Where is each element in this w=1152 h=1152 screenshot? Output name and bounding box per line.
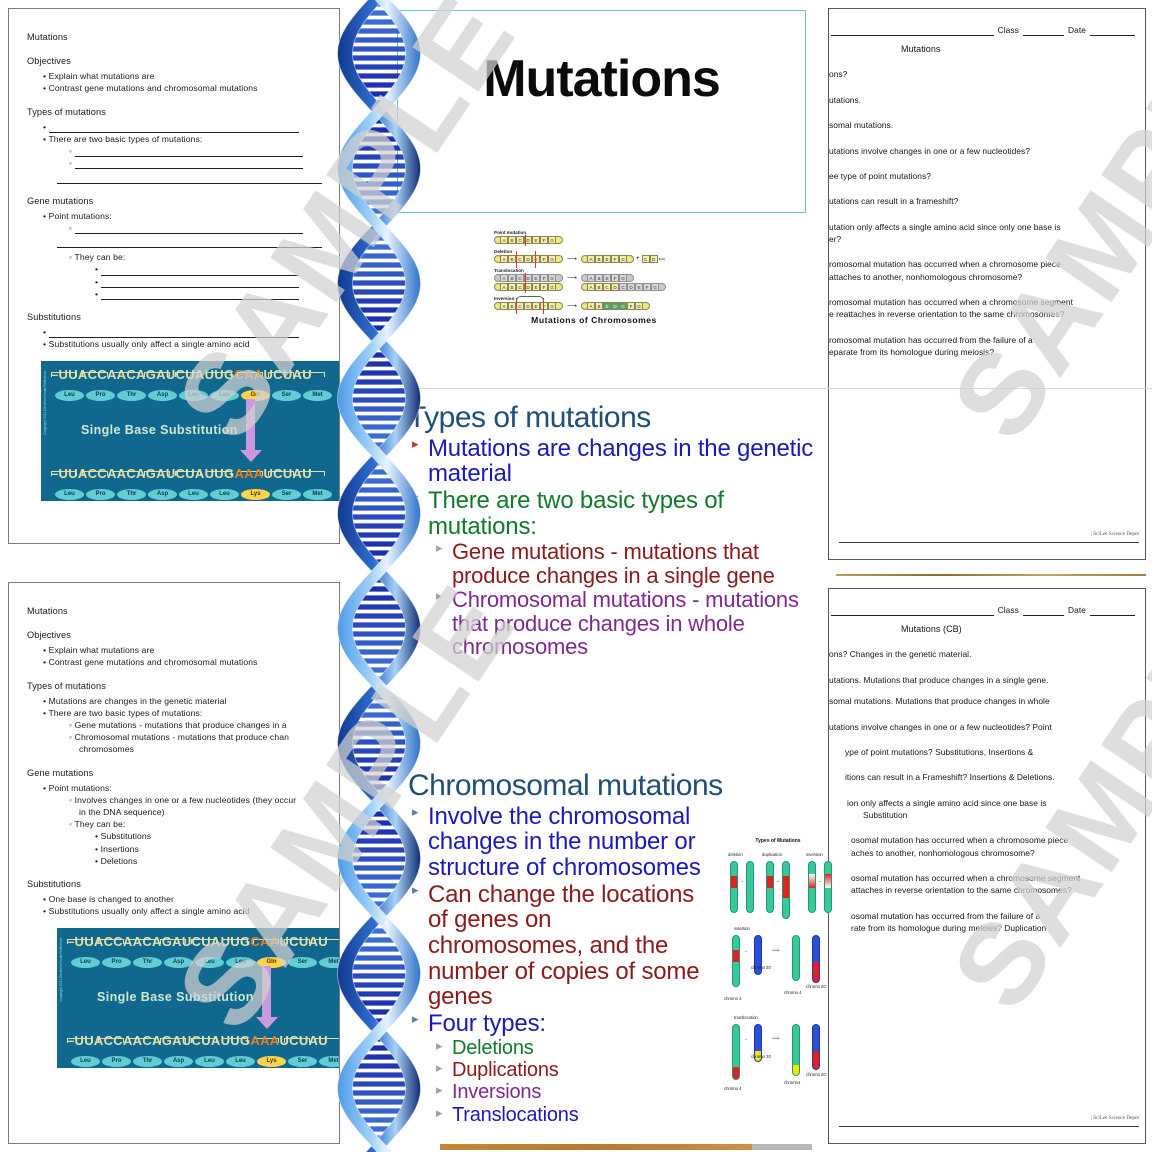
chromosome-translocation-src: [732, 1024, 740, 1080]
answer-blank[interactable]: [75, 149, 303, 157]
notes-blank-subs-blank: •: [27, 326, 325, 338]
notes-blank-types-b2: • There are two basic types of mutations…: [27, 133, 325, 145]
worksheet-key-q7: ion only affects a single amino acid sin…: [829, 798, 1135, 809]
slide-types-of-mutations: Types of mutations Mutations are changes…: [408, 402, 818, 659]
slide-chromosomal-type-4: Translocations: [408, 1105, 708, 1126]
worksheet-blank-q3: somal mutations.: [829, 120, 1135, 131]
figure-copyright: Copyright 2011 Genetics Home Reference: [59, 938, 63, 1002]
notes-key-gene-4: ◦ They can be:: [27, 818, 325, 830]
date-blank[interactable]: [1090, 607, 1135, 616]
chromosome-insertion-result-b: [812, 935, 820, 983]
worksheet-key-q4: utations involve changes in one or a few…: [829, 722, 1135, 733]
notes-key-gene-title: Gene mutations: [27, 767, 325, 780]
chromosome-duplication-after: [782, 861, 790, 919]
date-label: Date: [1068, 605, 1086, 616]
tom-figure-title: Types of Mutations: [716, 838, 840, 844]
sbs-figure-title: Single Base Substitution: [81, 423, 238, 437]
moc-row-translocation-bottom: ABCDEFG ⟶ ABCDCDEFG: [494, 283, 694, 291]
moc-label-translocation: Translocation: [494, 268, 694, 273]
figure-copyright: Copyright 2011 Genetics Home Reference: [43, 371, 47, 435]
notes-key-subs-title: Substitutions: [27, 878, 325, 891]
slide-types-bullet-1: Mutations are changes in the genetic mat…: [408, 436, 818, 487]
moc-row-point: ABCDEFG: [494, 236, 694, 244]
worksheet-gold-divider: [836, 574, 1146, 576]
tom-chromo-label-3: chromo 4: [784, 990, 801, 995]
answer-blank[interactable]: [49, 125, 299, 133]
notes-key-heading: Mutations: [27, 605, 325, 618]
slide-types-bullet-3: Gene mutations - mutations that produce …: [408, 540, 818, 587]
notes-key-types-title: Types of mutations: [27, 680, 325, 693]
notes-blank-subs-b2: • Substitutions usually only affect a si…: [27, 338, 325, 350]
chromosome-translocation-result-b: [812, 1024, 820, 1070]
dna-helix-icon: [325, 0, 433, 1152]
worksheet-blank-q10b: eparate from its homologue during meiosi…: [829, 347, 1135, 358]
moc-caption: Mutations of Chromosomes: [494, 315, 694, 325]
notes-blank-gene-sub-1: ◦: [27, 222, 325, 234]
worksheet-key-q8b: aches to another, nonhomologous chromoso…: [829, 848, 1135, 859]
name-blank[interactable]: [831, 27, 994, 36]
notes-key-objective-1: • Explain what mutations are: [27, 644, 325, 656]
single-base-substitution-figure-key: Copyright 2011 Genetics Home Reference –…: [57, 928, 340, 1068]
tom-chromo-label-2: chromo 20: [806, 984, 826, 989]
sbs-bottom-sequence: –UUACCAACAGAUCUAUUGAAAUCUAU: [51, 466, 312, 481]
notes-blank-objective-2: • Contrast gene mutations and chromosoma…: [27, 82, 325, 94]
tom-label-translocation: translocation: [734, 1015, 758, 1020]
notes-key-types-5: chromosomes: [27, 743, 325, 755]
notes-key-types-3: ◦ Gene mutations - mutations that produc…: [27, 719, 325, 731]
notes-blank-types-sub-1: ◦: [27, 145, 325, 157]
tom-label-duplication: duplication: [762, 852, 782, 857]
worksheet-blank-q9: romosomal mutation has occurred when a c…: [829, 297, 1135, 308]
notes-blank-gene-b1: • Point mutations:: [27, 210, 325, 222]
answer-blank[interactable]: [75, 226, 303, 234]
worksheet-blank-footer-rule: [839, 542, 1139, 543]
class-blank[interactable]: [1023, 607, 1064, 616]
chromosome-duplication-before: [766, 861, 774, 913]
tom-chromo-label-7: chromo4: [784, 1080, 800, 1085]
worksheet-blank-q7b: er?: [829, 234, 1135, 245]
slide-title-text: Mutations: [483, 49, 720, 109]
notes-key-objectives-title: Objectives: [27, 629, 325, 642]
notes-blank-gene-type-3: •: [27, 288, 325, 300]
worksheet-blank-q2: utations.: [829, 95, 1135, 106]
mutations-of-chromosomes-figure: Point mutation ABCDEFG Deletion ABCDEFG …: [494, 230, 694, 380]
moc-deletion-note: (lost): [659, 257, 666, 261]
worksheet-blank-q10: romosomal mutation has occurred from the…: [829, 335, 1135, 346]
worksheet-key-page: Class Date Mutations (CB) ons? Changes i…: [828, 588, 1146, 1144]
tom-label-inversion: inversion: [806, 852, 823, 857]
moc-row-translocation-top: ABCDEFG ⟶ ABEFG: [494, 274, 694, 282]
worksheet-key-q10: osomal mutation has occurred from the fa…: [829, 911, 1135, 922]
worksheet-key-q9b: attaches in reverse orientation to the s…: [829, 885, 1135, 896]
sbs-top-sequence: –UUACCAACAGAUCUAUUGCAAUCUAU: [51, 367, 312, 382]
notes-blank-types-blank-1: •: [27, 121, 325, 133]
notes-blank-types-sub-3: [27, 171, 325, 183]
notes-key-gene-5: • Substitutions: [27, 830, 325, 842]
moc-label-deletion: Deletion: [494, 249, 694, 254]
moc-row-inversion: ABCDEFG ⟶ ABEDCFG: [494, 302, 694, 310]
worksheet-key-footer-rule: [839, 1126, 1139, 1127]
chromosome-deletion-after: [746, 861, 754, 913]
notes-key-gene-2: ◦ Involves changes in one or a few nucle…: [27, 794, 325, 806]
sbs-bottom-sequence: –UUACCAACAGAUCUAUUGAAAUCUAU: [67, 1033, 328, 1048]
notes-key-objective-2: • Contrast gene mutations and chromosoma…: [27, 656, 325, 668]
substitution-arrow: [262, 966, 271, 1018]
notes-key-subs-2: • Substitutions usually only affect a si…: [27, 905, 325, 917]
chromosome-inversion-after: [824, 861, 832, 913]
notes-key-types-4: ◦ Chromosomal mutations - mutations that…: [27, 731, 325, 743]
notes-key-subs-1: • One base is changed to another: [27, 893, 325, 905]
notes-blank-gene-b2: ◦ They can be:: [27, 251, 325, 263]
slide-types-heading: Types of mutations: [408, 402, 818, 434]
slide-types-bullet-2: There are two basic types of mutations:: [408, 488, 818, 539]
moc-row-deletion: ABCDEFG ⟶ ABEFG + CD (lost): [494, 255, 694, 263]
substitution-arrow: [246, 399, 255, 451]
guided-notes-blank-page: Mutations Objectives • Explain what muta…: [8, 8, 340, 544]
notes-blank-heading: Mutations: [27, 31, 325, 44]
slide-separator-rule: [397, 388, 1152, 389]
notes-blank-subs-title: Substitutions: [27, 311, 325, 324]
sbs-top-sequence: –UUACCAACAGAUCUAUUGCAAUCUAU: [67, 934, 328, 949]
notes-key-gene-6: • Insertions: [27, 843, 325, 855]
worksheet-blank-page: Class Date Mutations ons? utations. soma…: [828, 8, 1146, 560]
tom-chromo-label-6: chromo 20: [806, 1072, 826, 1077]
notes-blank-gene-type-2: •: [27, 276, 325, 288]
notes-key-gene-1: • Point mutations:: [27, 782, 325, 794]
slide-chromosomal-mutations: Chromosomal mutations Involve the chromo…: [408, 770, 708, 1126]
chromosome-deletion-before: [730, 861, 738, 913]
chromosome-inversion-before: [808, 861, 816, 913]
worksheet-blank-q8b: attaches to another, nonhomologous chrom…: [829, 272, 1135, 283]
worksheet-blank-footer: | SciLee Science Depot: [1091, 531, 1139, 537]
slide-chromosomal-bullet-1: Involve the chromosomal changes in the n…: [408, 804, 708, 881]
answer-blank[interactable]: [101, 280, 299, 288]
worksheet-key-q3: somal mutations. Mutations that produce …: [829, 696, 1135, 707]
slide-title-card: Mutations: [397, 10, 806, 213]
tom-label-insertion: insertion: [734, 926, 750, 931]
slide-types-bullet-4: Chromosomal mutations - mutations that p…: [408, 588, 818, 659]
chromosome-insertion-result-a: [792, 935, 800, 981]
slide-chromosomal-bullet-2: Can change the locations of genes on chr…: [408, 882, 708, 1010]
slide-chromosomal-type-1: Deletions: [408, 1038, 708, 1059]
class-blank[interactable]: [1023, 27, 1064, 36]
bottom-accent-bar: [440, 1144, 752, 1150]
worksheet-key-q7b: Substitution: [829, 810, 1135, 821]
notes-blank-types-title: Types of mutations: [27, 106, 325, 119]
worksheet-blank-q6: utations can result in a frameshift?: [829, 196, 1135, 207]
bottom-accent-bar-grey: [752, 1144, 812, 1150]
slide-chromosomal-bullet-3: Four types:: [408, 1011, 708, 1037]
worksheet-key-footer: | SciLee Science Depot: [1091, 1115, 1139, 1121]
name-blank[interactable]: [831, 607, 994, 616]
worksheet-blank-q9b: e reattaches in reverse orientation to t…: [829, 309, 1135, 320]
notes-blank-gene-sub-2: [27, 236, 325, 248]
answer-blank[interactable]: [101, 292, 299, 300]
tom-chromo-label-4: chromo 4: [724, 996, 741, 1001]
chromosome-insertion-src: [732, 935, 740, 987]
worksheet-blank-q4: utations involve changes in one or a few…: [829, 146, 1135, 157]
answer-blank[interactable]: [75, 161, 303, 169]
sbs-figure-title: Single Base Substitution: [97, 990, 254, 1004]
worksheet-blank-title: Mutations: [829, 43, 1135, 55]
tom-chromo-label-5: chromo 20: [751, 1054, 771, 1059]
tom-label-deletion: deletion: [728, 852, 743, 857]
notes-blank-types-sub-2: ◦: [27, 157, 325, 169]
date-blank[interactable]: [1090, 27, 1135, 36]
answer-blank[interactable]: [101, 268, 299, 276]
worksheet-blank-q7: utation only affects a single amino acid…: [829, 222, 1135, 233]
sbs-bottom-amino-acids: LeuProThrAspLeuLeuLysSerMet: [71, 1049, 340, 1067]
preview-collage: Mutations Objectives • Explain what muta…: [0, 0, 1152, 1152]
worksheet-key-title: Mutations (CB): [829, 623, 1135, 635]
worksheet-blank-q1: ons?: [829, 69, 1135, 80]
chromosome-translocation-result-a: [792, 1024, 800, 1076]
worksheet-blank-header: Class Date: [829, 25, 1135, 36]
worksheet-key-q10b: rate from its homologue during meiosis? …: [829, 923, 1135, 934]
notes-key-gene-7: • Deletions: [27, 855, 325, 867]
guided-notes-key-page: Mutations Objectives • Explain what muta…: [8, 582, 340, 1144]
moc-label-point: Point mutation: [494, 230, 694, 235]
class-label: Class: [998, 605, 1019, 616]
worksheet-key-q1: ons? Changes in the genetic material.: [829, 649, 1135, 660]
worksheet-key-header: Class Date: [829, 605, 1135, 616]
sbs-top-amino-acids: LeuProThrAspLeuLeuGlnSerMet: [55, 383, 334, 401]
notes-blank-objectives-title: Objectives: [27, 55, 325, 68]
types-of-mutations-chromosome-figure: Types of Mutations deletion duplication …: [716, 838, 840, 1094]
worksheet-key-q5: ype of point mutations? Substitutions, I…: [829, 747, 1135, 758]
sbs-bottom-amino-acids: LeuProThrAspLeuLeuLysSerMet: [55, 482, 334, 500]
answer-blank[interactable]: [49, 330, 299, 338]
worksheet-key-q2: utations. Mutations that produce changes…: [829, 675, 1135, 686]
notes-key-types-2: • There are two basic types of mutations…: [27, 707, 325, 719]
sbs-top-amino-acids: LeuProThrAspLeuLeuGlnSerMet: [71, 950, 340, 968]
worksheet-key-q8: osomal mutation has occurred when a chro…: [829, 835, 1135, 846]
answer-blank[interactable]: [57, 240, 322, 248]
single-base-substitution-figure: Copyright 2011 Genetics Home Reference –…: [41, 361, 340, 501]
class-label: Class: [998, 25, 1019, 36]
notes-blank-objective-1: • Explain what mutations are: [27, 70, 325, 82]
slide-chromosomal-type-2: Duplications: [408, 1060, 708, 1081]
worksheet-blank-q5: ee type of point mutations?: [829, 171, 1135, 182]
slide-chromosomal-type-3: Inversions: [408, 1082, 708, 1103]
answer-blank[interactable]: [57, 176, 322, 184]
notes-key-types-1: • Mutations are changes in the genetic m…: [27, 695, 325, 707]
tom-chromo-label-1: chromo 20: [751, 965, 771, 970]
notes-blank-gene-title: Gene mutations: [27, 195, 325, 208]
notes-key-gene-3: in the DNA sequence): [27, 806, 325, 818]
worksheet-key-q6: itions can result in a Frameshift? Inser…: [829, 772, 1135, 783]
date-label: Date: [1068, 25, 1086, 36]
worksheet-blank-q8: romosomal mutation has occurred when a c…: [829, 259, 1135, 270]
slide-chromosomal-heading: Chromosomal mutations: [408, 770, 808, 802]
notes-blank-gene-type-1: •: [27, 263, 325, 275]
tom-chromo-label-8: chromo 4: [724, 1086, 741, 1091]
worksheet-key-q9: osomal mutation has occurred when a chro…: [829, 873, 1135, 884]
